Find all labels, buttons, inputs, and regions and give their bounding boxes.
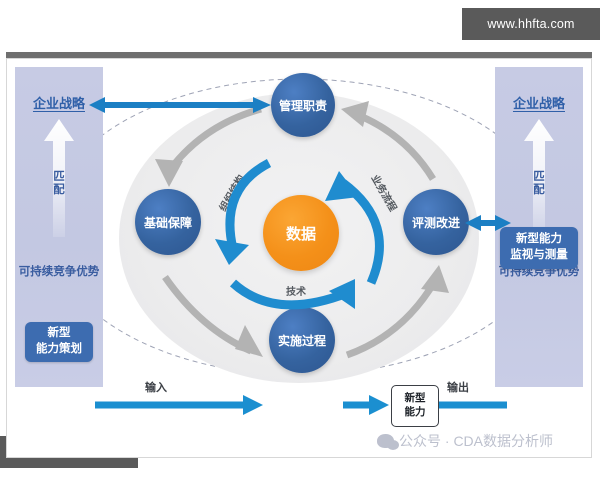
- panel-right-match-label: 匹配: [531, 171, 547, 197]
- diagram-stage: 管理职责 基础保障 评测改进 实施过程 数据 组织结构 业务流程 技术 输入 输…: [103, 67, 497, 451]
- box-new-capability[interactable]: 新型 能力: [391, 385, 439, 427]
- box-new-capability-line1: 新型: [405, 392, 426, 406]
- panel-left-enterprise-strategy: 企业战略 匹配 可持续竞争优势 新型 能力策划: [15, 67, 103, 387]
- blue-arrowhead-organization: [215, 239, 249, 265]
- panel-right-enterprise-strategy: 企业战略 匹配 可持续竞争优势 新型能力 监视与测量: [495, 67, 583, 387]
- panel-left-match-label: 匹配: [51, 171, 67, 197]
- blue-arc-organization: [230, 163, 269, 249]
- box-new-capability-planning-line1: 新型: [36, 326, 82, 342]
- box-new-capability-monitoring-line1: 新型能力: [510, 232, 568, 248]
- watermark-top-right: www.hhfta.com: [462, 8, 600, 40]
- box-new-capability-line2: 能力: [405, 406, 426, 420]
- panel-right-title: 企业战略: [495, 93, 583, 112]
- watermark-wechat-text: 公众号 · CDA数据分析师: [399, 431, 553, 451]
- panel-left-title: 企业战略: [15, 93, 103, 112]
- box-new-capability-monitoring-line2: 监视与测量: [510, 248, 568, 264]
- box-new-capability-planning[interactable]: 新型 能力策划: [25, 322, 93, 362]
- flow-arrow-input: [95, 395, 263, 415]
- watermark-top-right-text: www.hhfta.com: [487, 17, 574, 31]
- diagram-frame: 企业战略 匹配 可持续竞争优势 新型 能力策划 企业战略: [6, 58, 592, 458]
- box-new-capability-planning-line2: 能力策划: [36, 342, 82, 358]
- watermark-wechat: 公众号 · CDA数据分析师: [377, 431, 553, 451]
- panel-left-advantage-label: 可持续竞争优势: [15, 263, 103, 279]
- double-arrow-strategy-management: [89, 97, 271, 113]
- wechat-icon: [377, 434, 394, 448]
- box-new-capability-monitoring[interactable]: 新型能力 监视与测量: [500, 227, 578, 269]
- blue-arc-technology: [233, 283, 347, 305]
- flow-arrow-to-newcap: [343, 395, 389, 415]
